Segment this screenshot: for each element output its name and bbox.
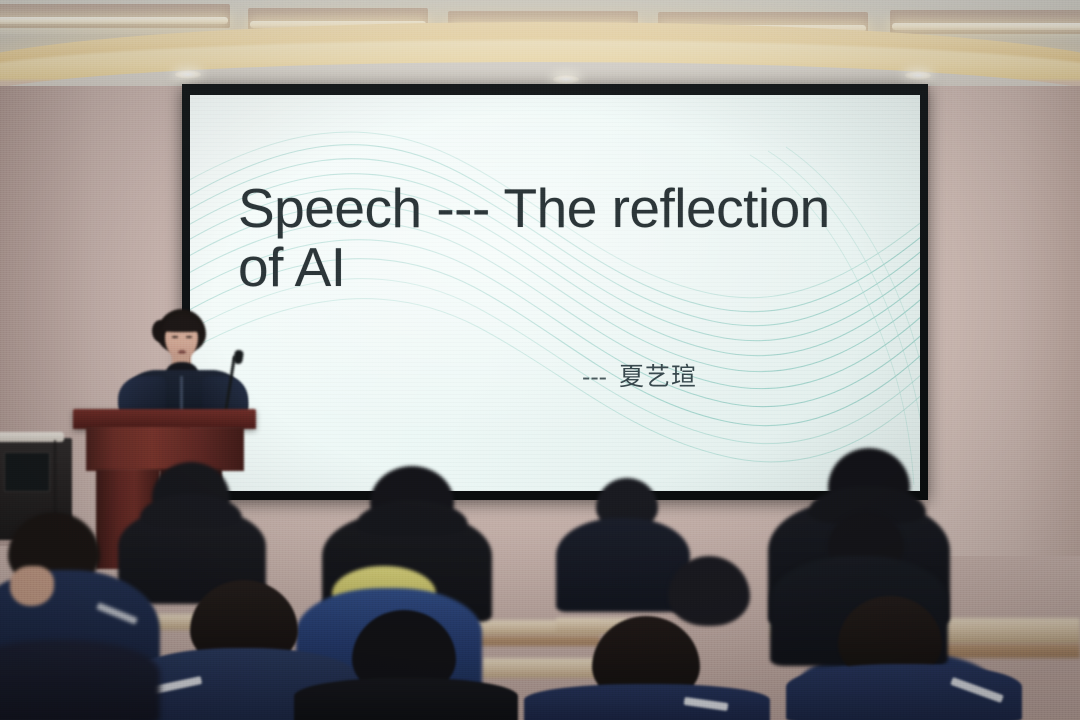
desk-row-mid-center <box>482 658 602 678</box>
slide-title-line-1: Speech --- The reflection <box>238 179 878 238</box>
torso <box>294 678 518 720</box>
torso <box>0 640 160 720</box>
projection-screen: Speech --- The reflection of AI ---夏艺瑄 <box>190 95 920 491</box>
wall-right-panel <box>930 86 1080 556</box>
slide-title-line-2: of AI <box>238 238 878 297</box>
desk-edge-back-center <box>468 636 600 646</box>
slide-author-dashes: --- <box>582 363 607 391</box>
podium-top <box>73 409 256 429</box>
slide-author-line: ---夏艺瑄 <box>582 357 697 393</box>
downlight-2 <box>553 75 579 84</box>
podium-body <box>86 427 244 471</box>
desk-row-right <box>940 618 1080 644</box>
ceiling-light-recess-5 <box>890 10 1080 34</box>
ceiling-light-strip-1 <box>0 17 228 24</box>
slide-author-name: 夏艺瑄 <box>619 363 697 391</box>
ceiling-light-recess-1 <box>0 4 230 28</box>
torso <box>524 684 770 720</box>
downlight-3 <box>905 71 931 80</box>
ceiling-light-strip-5 <box>892 23 1080 30</box>
downlight-1 <box>175 70 201 79</box>
av-rack-panel <box>4 452 50 492</box>
classroom-presentation-scene: Speech --- The reflection of AI ---夏艺瑄 <box>0 0 1080 720</box>
slide-title: Speech --- The reflection of AI <box>238 179 878 297</box>
desk-edge-right <box>940 644 1080 658</box>
speaker-eye-right <box>186 336 192 338</box>
speaker-eye-left <box>172 336 178 338</box>
ceiling <box>0 0 1080 62</box>
hand <box>10 566 54 606</box>
